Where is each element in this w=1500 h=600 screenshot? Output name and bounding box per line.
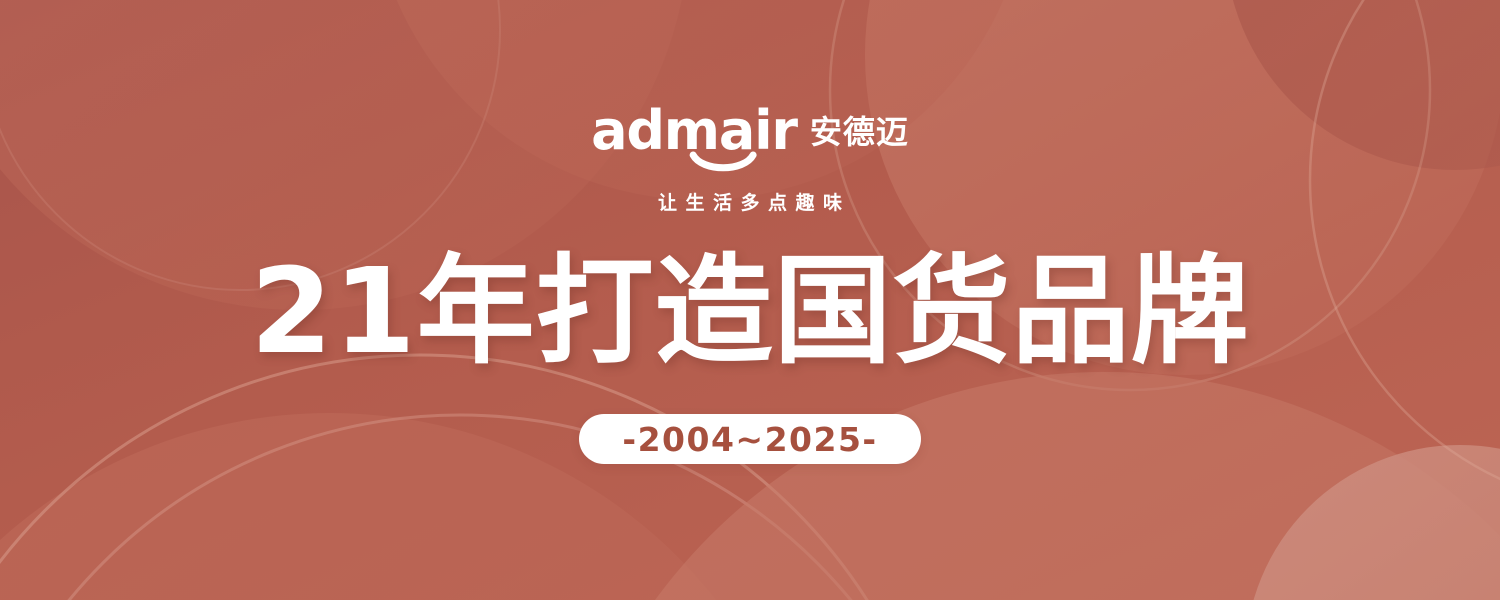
brand-wordmark: admair bbox=[591, 104, 797, 158]
brand-wordmark-cn: 安德迈 bbox=[810, 116, 909, 148]
banner-content: admair 安德迈 让生活多点趣味 21年打造国货品牌 -2004~2025- bbox=[0, 0, 1500, 600]
year-range-badge: -2004~2025- bbox=[579, 414, 921, 464]
year-range-label: -2004~2025- bbox=[622, 423, 877, 456]
wordmark-wrap: admair bbox=[591, 104, 797, 158]
smile-curve-icon bbox=[690, 152, 756, 174]
brand-logo-lockup: admair 安德迈 bbox=[591, 104, 909, 158]
headline-text: 21年打造国货品牌 bbox=[250, 252, 1249, 370]
promo-banner: admair 安德迈 让生活多点趣味 21年打造国货品牌 -2004~2025- bbox=[0, 0, 1500, 600]
brand-tagline: 让生活多点趣味 bbox=[649, 188, 850, 215]
